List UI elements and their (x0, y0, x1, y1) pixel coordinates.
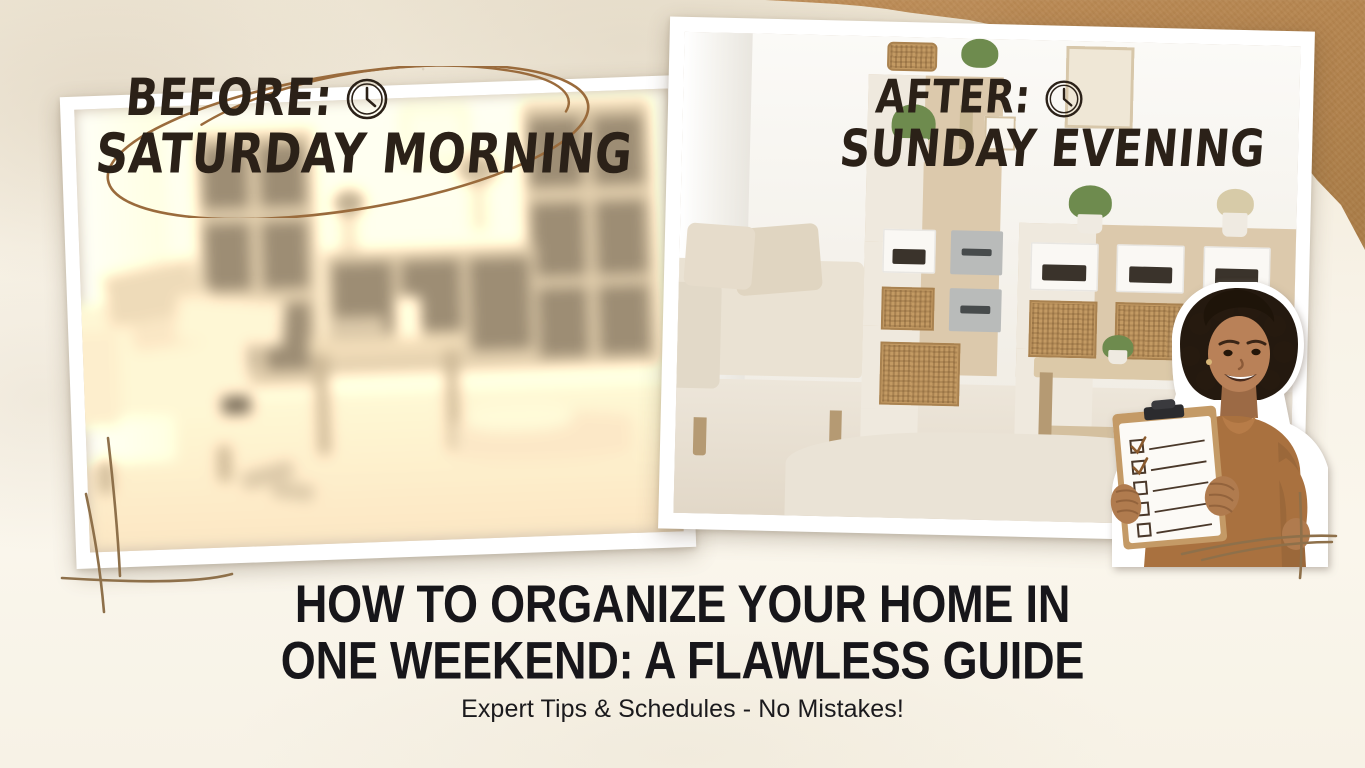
right-arm-skin (1282, 518, 1310, 550)
after-label: AFTER: SUNDAY EVENING (876, 76, 1265, 169)
subtitle: Expert Tips & Schedules - No Mistakes! (0, 695, 1365, 724)
before-label-line2: SATURDAY MORNING (94, 127, 635, 181)
person-cutout (1110, 282, 1328, 567)
main-title-line1: HOW TO ORGANIZE YOUR HOME IN (0, 576, 1365, 632)
clipboard (1111, 395, 1227, 550)
title-block: HOW TO ORGANIZE YOUR HOME IN ONE WEEKEND… (0, 576, 1365, 724)
person-with-clipboard-illustration (1110, 282, 1328, 567)
after-label-line2: SUNDAY EVENING (838, 123, 1268, 173)
clock-icon (1043, 78, 1085, 120)
before-label-line1: BEFORE: (124, 73, 335, 123)
clock-icon (344, 76, 390, 122)
main-title-line2: ONE WEEKEND: A FLAWLESS GUIDE (0, 632, 1365, 688)
poster-canvas: BEFORE: SATURDAY MORNING (0, 0, 1365, 768)
before-label: BEFORE: SATURDAY MORNING (126, 74, 632, 176)
after-label-line1: AFTER: (874, 75, 1033, 120)
main-title: HOW TO ORGANIZE YOUR HOME IN ONE WEEKEND… (0, 576, 1365, 689)
